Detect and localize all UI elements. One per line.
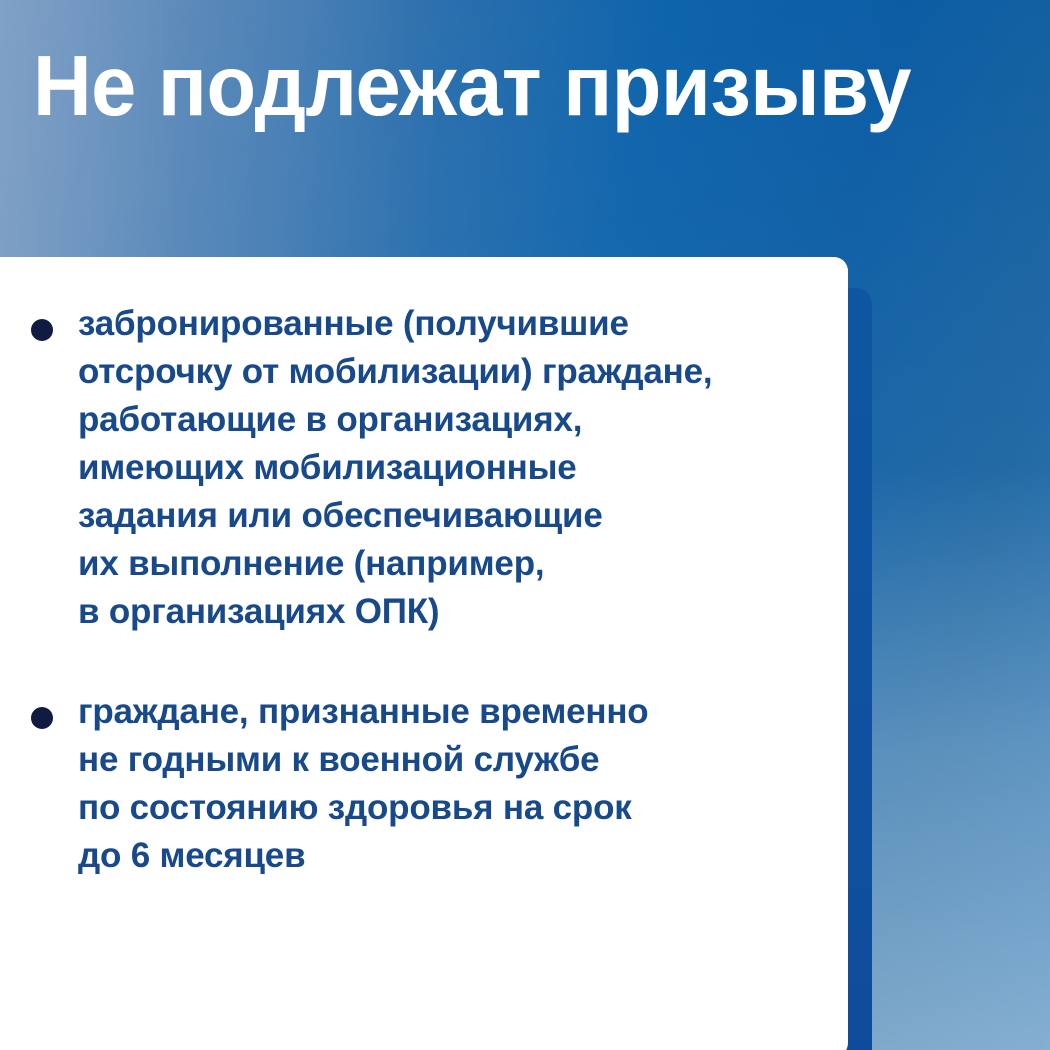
infographic-poster: Не подлежат призыву забронированные (пол… xyxy=(0,0,1050,1050)
list-item: граждане, признанные временно не годными… xyxy=(0,688,830,880)
bullet-dot-icon xyxy=(31,319,53,341)
list-item: забронированные (получившие отсрочку от … xyxy=(0,300,830,636)
bullet-dot-icon xyxy=(31,707,53,729)
bullet-list: забронированные (получившие отсрочку от … xyxy=(0,300,830,880)
list-item-text: забронированные (получившие отсрочку от … xyxy=(78,300,830,636)
page-title: Не подлежат призыву xyxy=(33,44,969,129)
list-item-text: граждане, признанные временно не годными… xyxy=(78,688,830,880)
